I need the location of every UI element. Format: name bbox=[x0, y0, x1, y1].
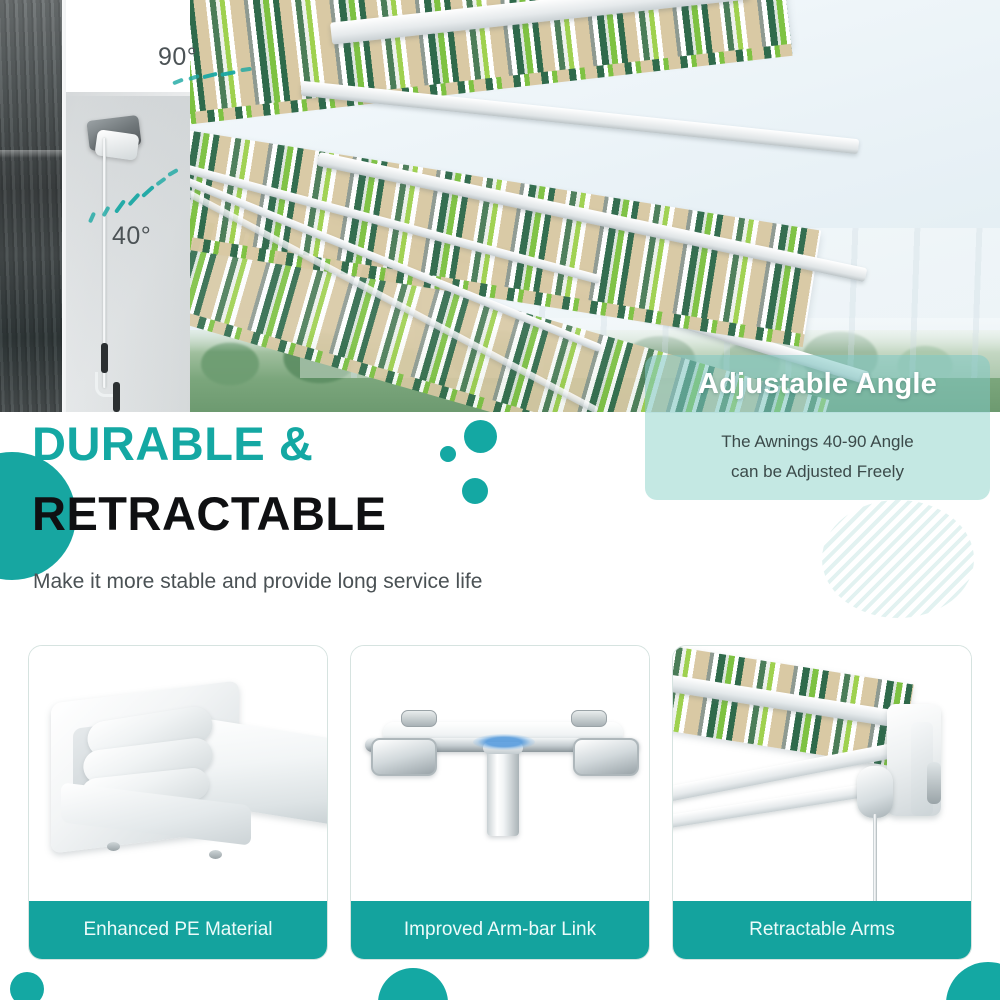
pe-screw-2 bbox=[209, 850, 222, 859]
feature-card-label: Enhanced PE Material bbox=[83, 919, 272, 941]
callout-line-2: can be Adjusted Freely bbox=[731, 461, 904, 482]
callout-heading-bar: Adjustable Angle bbox=[645, 355, 990, 413]
headline-subtitle: Make it more stable and provide long ser… bbox=[33, 570, 482, 594]
crank-grip-lower bbox=[113, 382, 120, 412]
link-bolt-cap-right bbox=[571, 710, 607, 727]
callout-heading: Adjustable Angle bbox=[698, 368, 937, 401]
feature-card-enhanced-pe-material[interactable]: Enhanced PE Material bbox=[28, 645, 328, 960]
diagonal-stripe-circle-decoration bbox=[822, 500, 974, 618]
teal-circle-decoration-3 bbox=[462, 478, 488, 504]
headline-primary: DURABLE & bbox=[32, 420, 313, 467]
arm-tension-cable bbox=[873, 814, 877, 901]
link-nut-left bbox=[371, 738, 437, 776]
retractable-arms-photo bbox=[673, 646, 971, 901]
teal-circle-decoration-bottom-center bbox=[378, 968, 448, 1000]
wood-panel-wall bbox=[0, 0, 62, 412]
teal-circle-decoration-2 bbox=[440, 446, 456, 462]
feature-card-footer: Improved Arm-bar Link bbox=[351, 901, 649, 959]
awning-front-rail-top bbox=[301, 81, 860, 154]
link-center-pin bbox=[487, 746, 519, 836]
feature-card-list: Enhanced PE Material Improved A bbox=[28, 645, 972, 958]
arm-elbow-joint bbox=[857, 766, 893, 818]
feature-card-footer: Retractable Arms bbox=[673, 901, 971, 959]
callout-line-1: The Awnings 40-90 Angle bbox=[721, 431, 914, 452]
feature-card-footer: Enhanced PE Material bbox=[29, 901, 327, 959]
arm-adjust-knob bbox=[927, 762, 941, 804]
feature-card-label: Improved Arm-bar Link bbox=[404, 919, 596, 941]
adjustable-angle-callout: Adjustable Angle The Awnings 40-90 Angle… bbox=[645, 355, 990, 500]
arm-bar-link-photo bbox=[351, 646, 649, 901]
hero-photo: 90° 40° bbox=[0, 0, 1000, 412]
pe-bracket-photo bbox=[29, 646, 327, 901]
link-bolt-cap-left bbox=[401, 710, 437, 727]
angle-label-90: 90° bbox=[158, 43, 197, 72]
feature-card-label: Retractable Arms bbox=[749, 919, 895, 941]
teal-circle-decoration-1 bbox=[464, 420, 497, 453]
teal-circle-decoration-bottom-left bbox=[10, 972, 44, 1000]
feature-card-retractable-arms[interactable]: Retractable Arms bbox=[672, 645, 972, 960]
pe-screw-1 bbox=[107, 842, 120, 851]
link-nut-right bbox=[573, 738, 639, 776]
headline-secondary: RETRACTABLE bbox=[32, 490, 387, 537]
product-feature-page: 90° 40° Adjustable Angle The Awnings 40-… bbox=[0, 0, 1000, 1000]
crank-grip-upper bbox=[101, 343, 108, 373]
callout-body: The Awnings 40-90 Angle can be Adjusted … bbox=[645, 413, 990, 500]
link-blue-washer-highlight bbox=[473, 734, 535, 750]
angle-label-40: 40° bbox=[112, 222, 151, 251]
feature-card-improved-arm-bar-link[interactable]: Improved Arm-bar Link bbox=[350, 645, 650, 960]
teal-circle-decoration-bottom-right bbox=[946, 962, 1000, 1000]
